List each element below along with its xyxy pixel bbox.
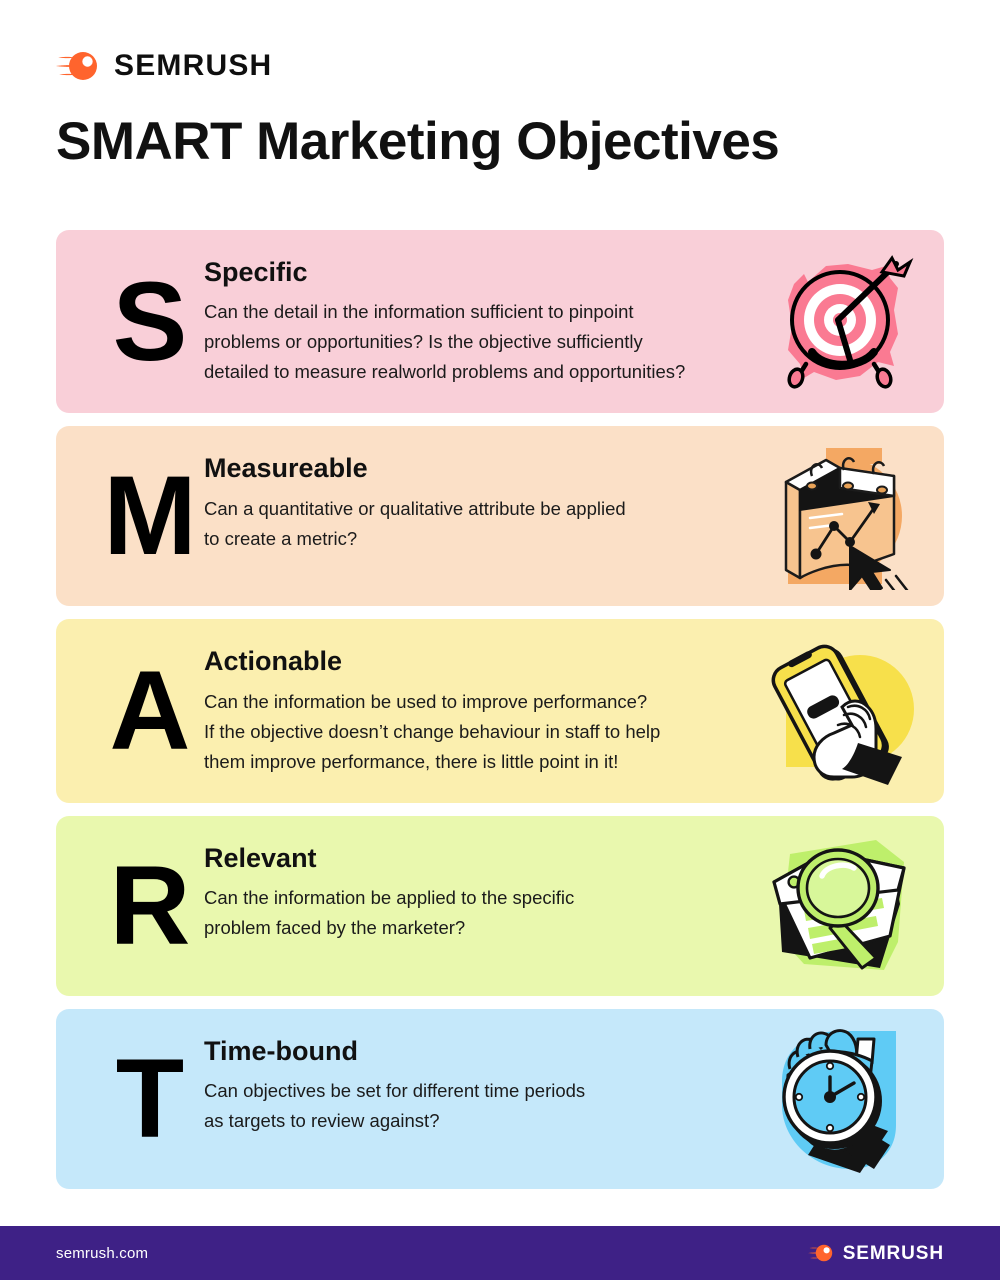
card-text-actionable: Can the information be used to improve p… xyxy=(204,687,694,777)
card-text-relevant: Can the information be applied to the sp… xyxy=(204,883,694,943)
page-title: SMART Marketing Objectives xyxy=(56,112,779,171)
card-text-time-bound: Can objectives be set for different time… xyxy=(204,1076,694,1136)
card-heading-measureable: Measureable xyxy=(204,452,694,484)
infographic-page: SEMRUSH SMART Marketing Objectives S Spe… xyxy=(0,0,1000,1280)
card-heading-specific: Specific xyxy=(204,256,694,288)
smart-card-relevant: R Relevant Can the information be applie… xyxy=(56,816,944,996)
page-footer: semrush.com SEMRUSH xyxy=(0,1226,1000,1280)
smart-card-list: S Specific Can the detail in the informa… xyxy=(56,230,944,1202)
card-letter-t: T xyxy=(94,1043,204,1155)
footer-wordmark: SEMRUSH xyxy=(843,1244,944,1263)
brand-wordmark: SEMRUSH xyxy=(114,51,272,81)
card-text-measureable: Can a quantitative or qualitative attrib… xyxy=(204,494,694,554)
card-text-specific: Can the detail in the information suffic… xyxy=(204,297,694,387)
smart-card-actionable: A Actionable Can the information be used… xyxy=(56,619,944,802)
smart-card-measureable: M Measureable Can a quantitative or qual… xyxy=(56,426,944,606)
card-heading-time-bound: Time-bound xyxy=(204,1035,694,1067)
card-letter-s: S xyxy=(94,266,204,378)
footer-url[interactable]: semrush.com xyxy=(56,1245,148,1262)
card-body-actionable: Actionable Can the information be used t… xyxy=(204,619,944,802)
semrush-comet-icon xyxy=(56,48,100,84)
card-body-measureable: Measureable Can a quantitative or qualit… xyxy=(204,426,944,579)
brand-logo: SEMRUSH xyxy=(56,48,272,84)
smart-card-time-bound: T Time-bound Can objectives be set for d… xyxy=(56,1009,944,1189)
card-heading-relevant: Relevant xyxy=(204,842,694,874)
card-letter-a: A xyxy=(94,655,204,767)
card-letter-m: M xyxy=(94,460,204,572)
smart-card-specific: S Specific Can the detail in the informa… xyxy=(56,230,944,413)
card-body-relevant: Relevant Can the information be applied … xyxy=(204,816,944,969)
card-body-specific: Specific Can the detail in the informati… xyxy=(204,230,944,413)
footer-brand-logo: SEMRUSH xyxy=(808,1242,944,1264)
card-letter-r: R xyxy=(94,850,204,962)
card-heading-actionable: Actionable xyxy=(204,645,694,677)
semrush-comet-icon xyxy=(808,1242,834,1264)
card-body-time-bound: Time-bound Can objectives be set for dif… xyxy=(204,1009,944,1162)
